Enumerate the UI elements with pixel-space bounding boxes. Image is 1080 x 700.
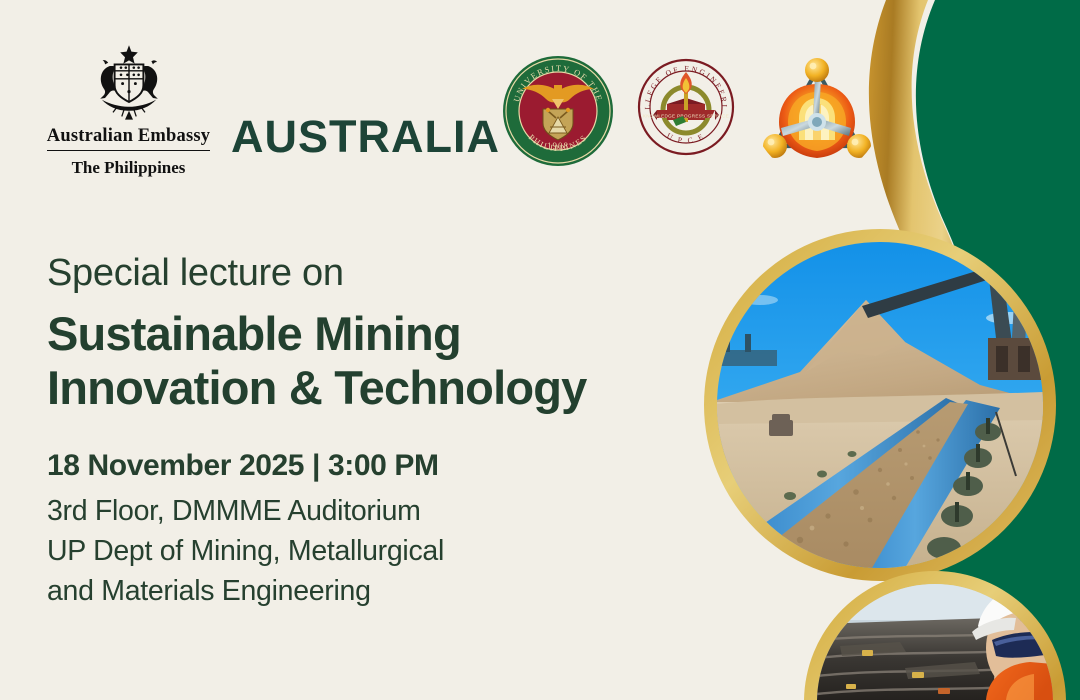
- page-title: Sustainable Mining Innovation & Technolo…: [47, 307, 667, 416]
- australian-coat-of-arms-icon: [73, 42, 185, 122]
- eyebrow-text: Special lecture on: [47, 252, 667, 295]
- college-of-engineering-seal: COLLEGE OF ENGINEERING U P C E KNOWLEDGE…: [637, 58, 735, 156]
- headline-block: Special lecture on Sustainable Mining In…: [47, 252, 667, 416]
- venue-line-3: and Materials Engineering: [47, 571, 667, 611]
- svg-text:1908: 1908: [547, 141, 569, 151]
- university-of-the-philippines-seal: UNIVERSITY OF THE PHILIPPINES 1908: [502, 55, 614, 167]
- embassy-line-2: The Philippines: [36, 158, 221, 178]
- embassy-line-1: Australian Embassy: [47, 126, 210, 151]
- dmmme-department-logo: [753, 48, 881, 176]
- venue-line-2: UP Dept of Mining, Metallurgical: [47, 531, 667, 571]
- study-australia-word-2: AUSTRALIA: [231, 115, 471, 159]
- svg-text:KNOWLEDGE PROGRESS SERVICE: KNOWLEDGE PROGRESS SERVICE: [643, 113, 729, 118]
- logo-bar: Australian Embassy The Philippines STUDY…: [0, 0, 1080, 195]
- study-australia-word-1: STUDY: [231, 78, 471, 115]
- title-line-1: Sustainable Mining: [47, 307, 667, 362]
- study-australia-logo: STUDY AUSTRALIA: [231, 78, 471, 159]
- title-line-2: Innovation & Technology: [47, 361, 667, 416]
- venue-line-1: 3rd Floor, DMMME Auditorium: [47, 491, 667, 531]
- event-details-block: 18 November 2025 | 3:00 PM 3rd Floor, DM…: [47, 447, 667, 612]
- event-poster: Australian Embassy The Philippines STUDY…: [0, 0, 1080, 700]
- australian-embassy-logo: Australian Embassy The Philippines: [36, 42, 221, 178]
- event-datetime: 18 November 2025 | 3:00 PM: [47, 447, 667, 485]
